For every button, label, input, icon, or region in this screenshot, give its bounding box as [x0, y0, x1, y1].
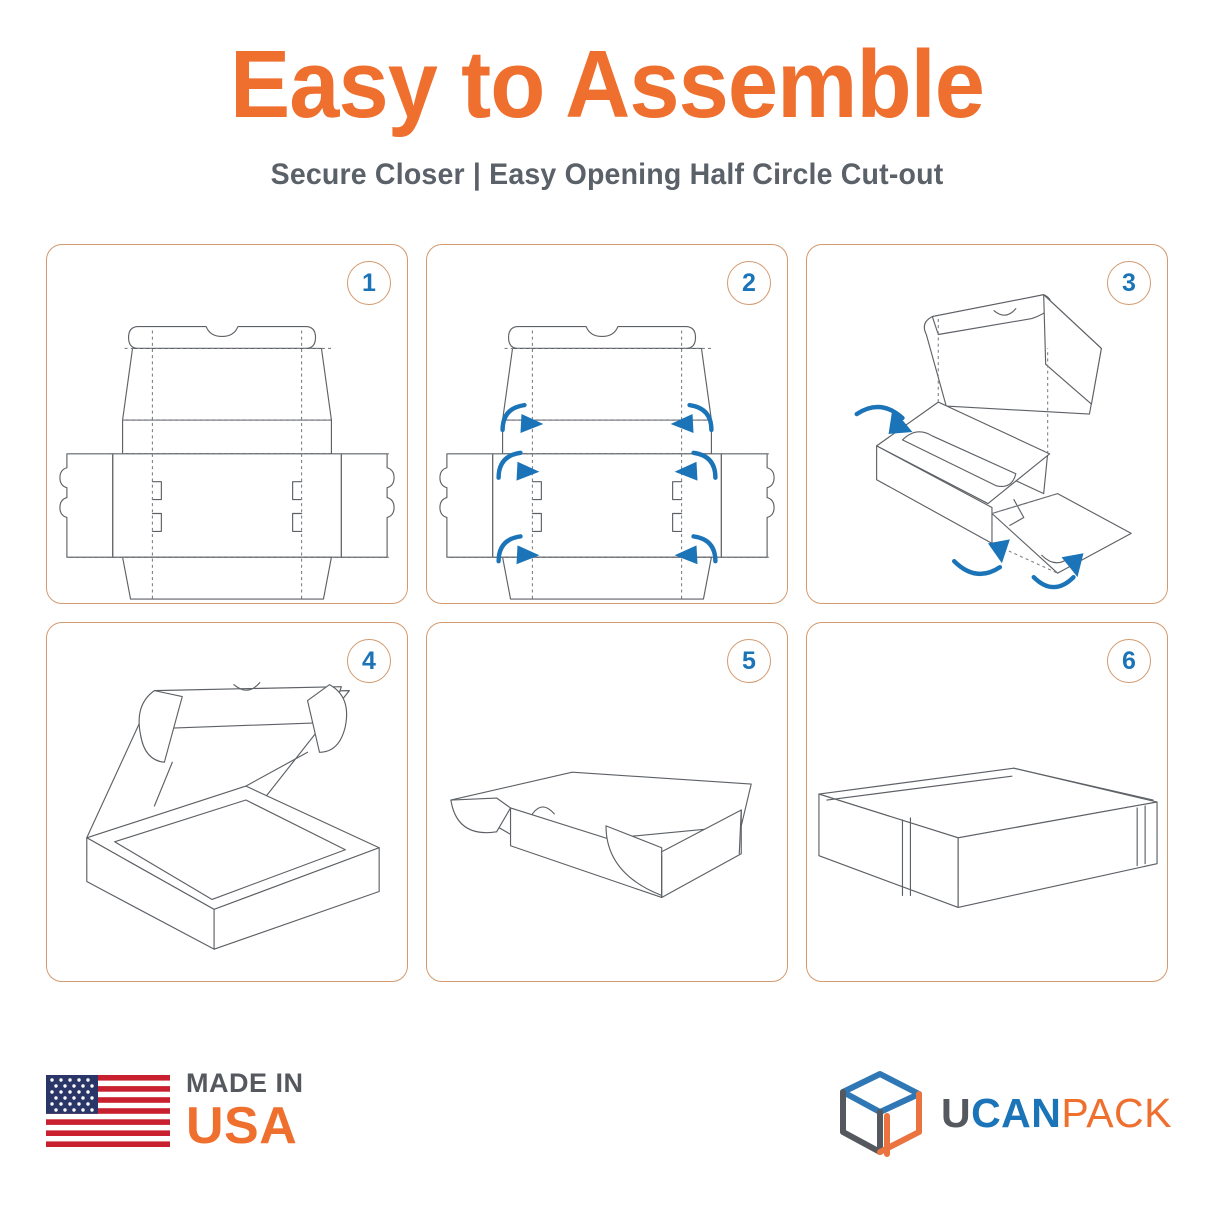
page-title: Easy to Assemble: [36, 34, 1177, 136]
step-card-5[interactable]: 5: [426, 622, 788, 982]
brand-wordmark: U CAN PACK: [941, 1090, 1172, 1137]
usa-label: USA: [186, 1100, 304, 1152]
made-in-label: MADE IN: [186, 1070, 304, 1097]
fold-arrow-front-flap: [954, 539, 1010, 574]
brand-logo[interactable]: U CAN PACK: [835, 1068, 1172, 1158]
step-number-badge-3: 3: [1107, 261, 1151, 305]
assembly-steps-grid: 1: [46, 244, 1168, 982]
us-flag-icon: [46, 1075, 170, 1147]
step-number-badge-1: 1: [347, 261, 391, 305]
header: Easy to Assemble Secure Closer | Easy Op…: [0, 0, 1214, 192]
step-card-3[interactable]: 3: [806, 244, 1168, 604]
step-number-badge-2: 2: [727, 261, 771, 305]
infographic-page: Easy to Assemble Secure Closer | Easy Op…: [0, 0, 1214, 1214]
step-number-badge-6: 6: [1107, 639, 1151, 683]
made-in-usa-text: MADE IN USA: [186, 1070, 304, 1152]
step-card-1[interactable]: 1: [46, 244, 408, 604]
step-card-4[interactable]: 4: [46, 622, 408, 982]
brand-word-can: CAN: [971, 1090, 1061, 1137]
step-number-badge-5: 5: [727, 639, 771, 683]
step-number-badge-4: 4: [347, 639, 391, 683]
step-card-2[interactable]: 2: [426, 244, 788, 604]
footer: MADE IN USA U CAN: [0, 1058, 1214, 1168]
page-subtitle: Secure Closer | Easy Opening Half Circle…: [30, 158, 1183, 192]
open-box-logo-icon: [835, 1068, 927, 1158]
step-card-6[interactable]: 6: [806, 622, 1168, 982]
fold-arrow-left-wall: [857, 407, 913, 434]
brand-word-pack: PACK: [1061, 1090, 1172, 1137]
brand-word-u: U: [941, 1090, 971, 1137]
made-in-usa-badge: MADE IN USA: [46, 1070, 304, 1152]
